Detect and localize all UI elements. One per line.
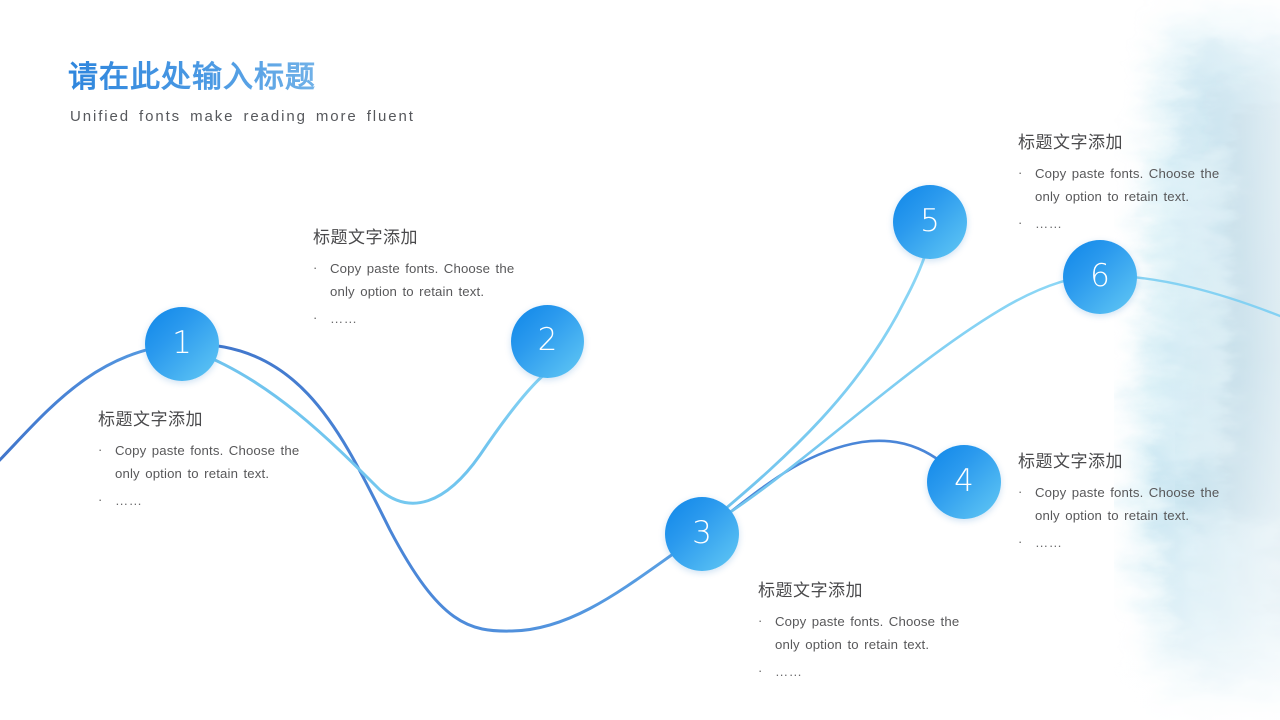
node-circle-6[interactable]: 6 [1063, 240, 1137, 314]
curve-main-segment-3-to-4 [702, 441, 964, 534]
node-bullet-text-4-2: …… [1035, 531, 1063, 554]
node-bullet-5-2: · …… [1018, 212, 1240, 235]
node-bullet-2-1: · Copy paste fonts. Choose the only opti… [313, 257, 535, 303]
node-bullet-text-5-2: …… [1035, 212, 1063, 235]
node-number-1: 1 [172, 328, 192, 359]
curve-light-segment-3-to-5 [712, 226, 932, 520]
node-circle-5[interactable]: 5 [893, 185, 967, 259]
node-text-4: 标题文字添加 · Copy paste fonts. Choose the on… [1018, 447, 1240, 558]
bullet-marker-icon: · [758, 610, 775, 632]
page-subtitle: Unified fonts make reading more fluent [70, 108, 415, 125]
node-bullet-3-1: · Copy paste fonts. Choose the only opti… [758, 610, 980, 656]
node-heading-1: 标题文字添加 [98, 405, 320, 430]
watercolor-texture-decoration [1050, 0, 1280, 720]
node-heading-5: 标题文字添加 [1018, 128, 1240, 153]
node-bullet-text-3-2: …… [775, 660, 803, 683]
node-bullet-4-1: · Copy paste fonts. Choose the only opti… [1018, 481, 1240, 527]
node-number-6: 6 [1090, 261, 1110, 292]
bullet-marker-icon: · [1018, 481, 1035, 503]
node-circle-3[interactable]: 3 [665, 497, 739, 571]
bullet-marker-icon: · [98, 439, 115, 461]
node-circle-4[interactable]: 4 [927, 445, 1001, 519]
bullet-marker-icon: · [313, 257, 330, 279]
page-title: 请在此处输入标题 [68, 52, 415, 96]
node-heading-3: 标题文字添加 [758, 576, 980, 601]
bullet-marker-icon: · [1018, 531, 1035, 553]
bullet-marker-icon: · [758, 660, 775, 682]
node-bullet-5-1: · Copy paste fonts. Choose the only opti… [1018, 162, 1240, 208]
node-text-1: 标题文字添加 · Copy paste fonts. Choose the on… [98, 405, 320, 516]
node-bullet-text-4-1: Copy paste fonts. Choose the only option… [1035, 481, 1240, 527]
node-bullet-text-2-2: …… [330, 307, 358, 330]
node-number-5: 5 [920, 206, 940, 237]
node-bullet-text-3-1: Copy paste fonts. Choose the only option… [775, 610, 980, 656]
bullet-marker-icon: · [313, 307, 330, 329]
node-bullet-1-1: · Copy paste fonts. Choose the only opti… [98, 439, 320, 485]
node-number-3: 3 [692, 518, 712, 549]
slide-header: 请在此处输入标题 Unified fonts make reading more… [68, 52, 415, 125]
node-text-3: 标题文字添加 · Copy paste fonts. Choose the on… [758, 576, 980, 687]
node-number-2: 2 [538, 325, 558, 356]
bullet-marker-icon: · [1018, 212, 1035, 234]
node-bullet-text-1-1: Copy paste fonts. Choose the only option… [115, 439, 320, 485]
node-heading-4: 标题文字添加 [1018, 447, 1240, 472]
node-circle-1[interactable]: 1 [145, 307, 219, 381]
bullet-marker-icon: · [1018, 162, 1035, 184]
node-bullet-text-2-1: Copy paste fonts. Choose the only option… [330, 257, 535, 303]
node-heading-2: 标题文字添加 [313, 223, 535, 248]
node-text-2: 标题文字添加 · Copy paste fonts. Choose the on… [313, 223, 535, 334]
bullet-marker-icon: · [98, 489, 115, 511]
node-bullet-text-1-2: …… [115, 489, 143, 512]
node-number-4: 4 [954, 466, 974, 497]
node-bullet-4-2: · …… [1018, 531, 1240, 554]
node-bullet-1-2: · …… [98, 489, 320, 512]
slide-canvas: 请在此处输入标题 Unified fonts make reading more… [0, 0, 1280, 720]
node-bullet-text-5-1: Copy paste fonts. Choose the only option… [1035, 162, 1240, 208]
node-text-5: 标题文字添加 · Copy paste fonts. Choose the on… [1018, 128, 1240, 239]
node-bullet-2-2: · …… [313, 307, 535, 330]
node-bullet-3-2: · …… [758, 660, 980, 683]
